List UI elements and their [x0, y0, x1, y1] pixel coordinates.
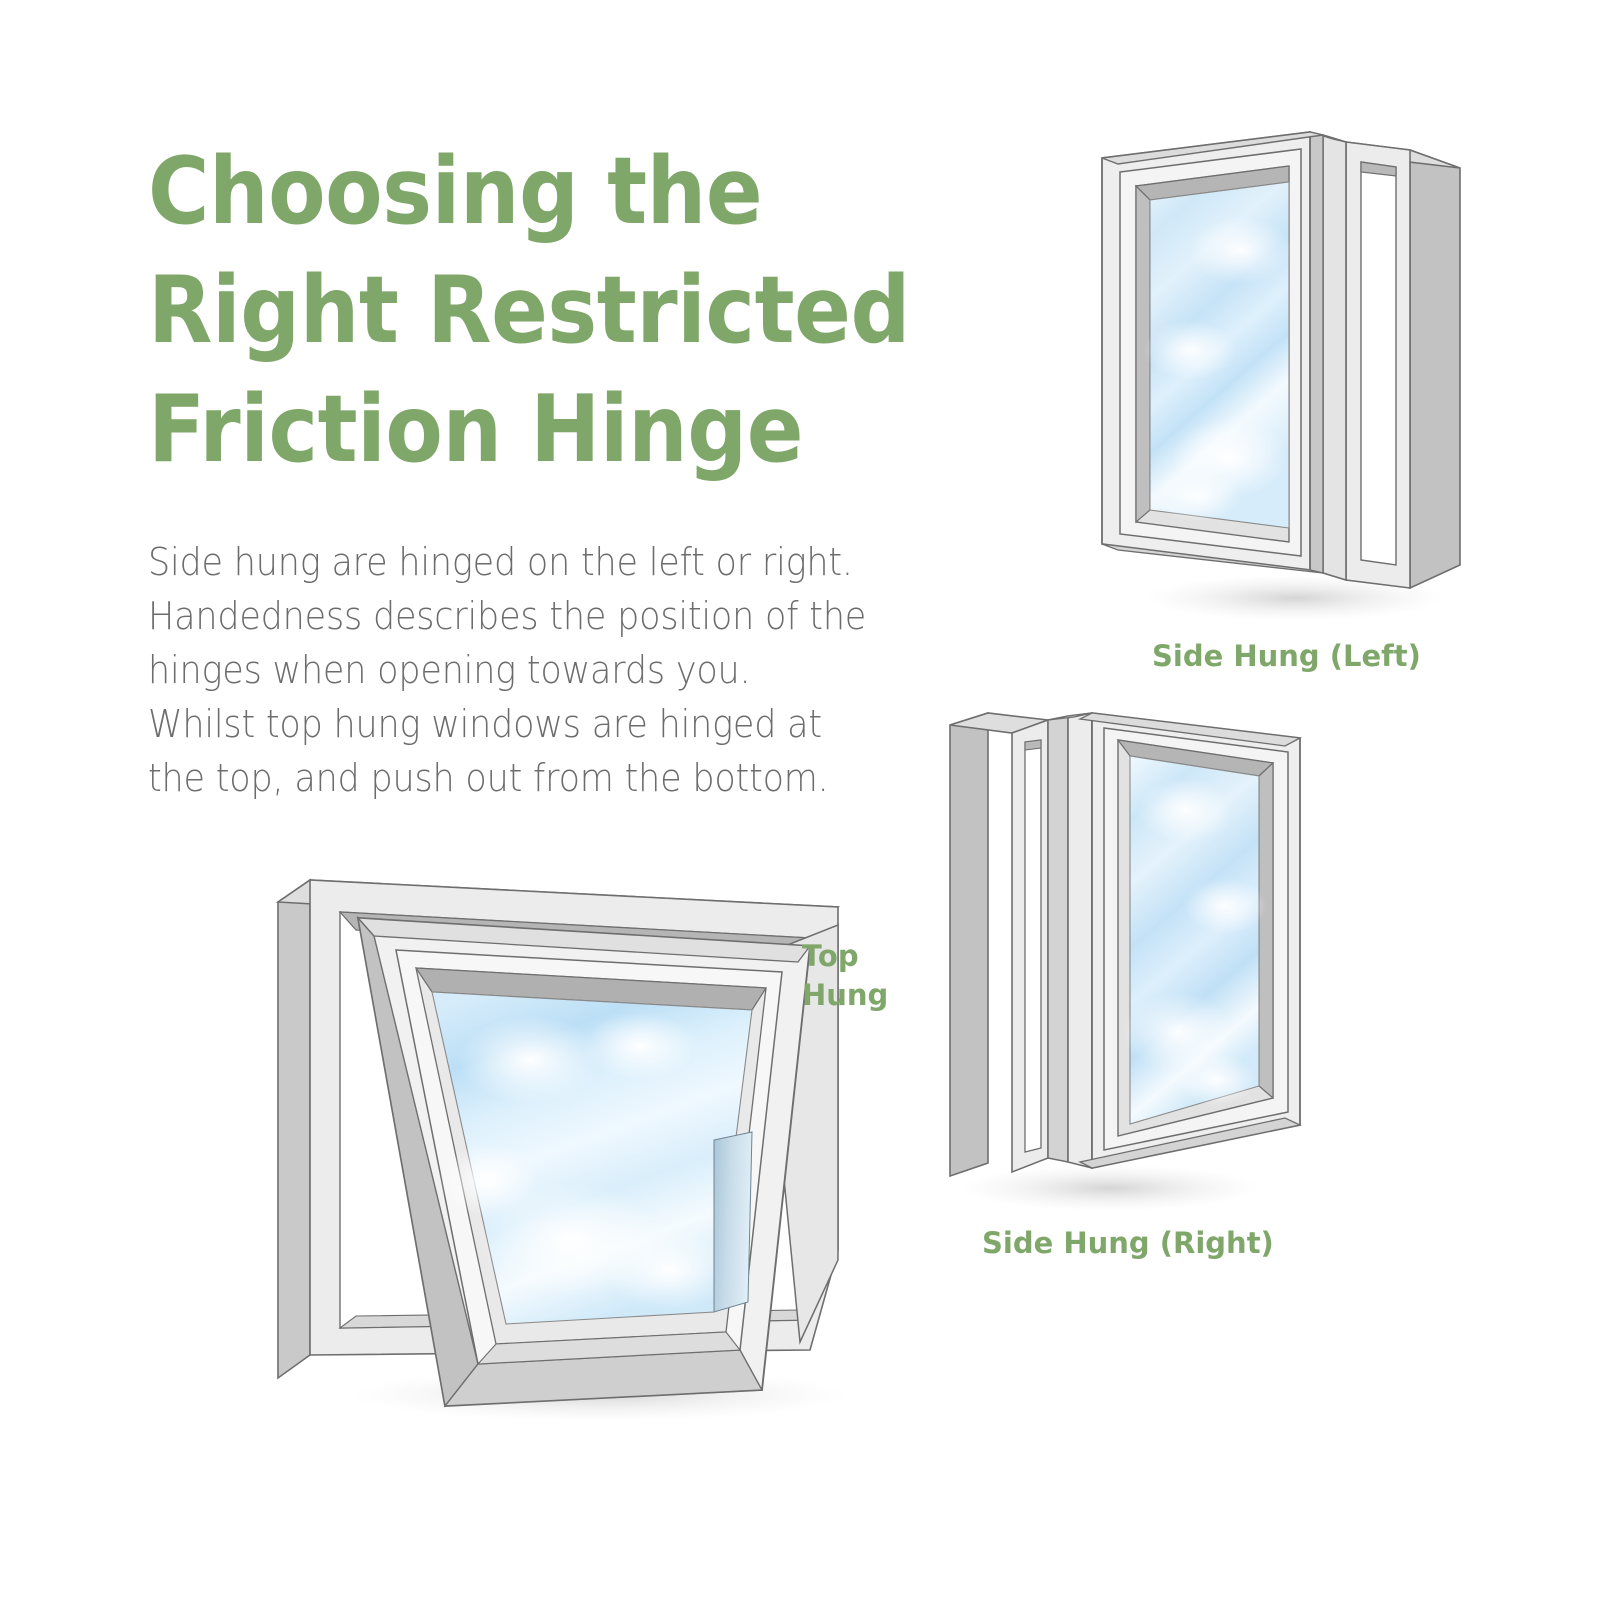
- frame-jamb-side: [1310, 132, 1323, 573]
- infographic-canvas: Choosing the Right Restricted Friction H…: [0, 0, 1600, 1600]
- sash-right-stile-reveal: [1259, 763, 1273, 1098]
- outer-frame-left-face: [950, 713, 988, 1176]
- figure-label-top-hung: Top Hung: [802, 937, 888, 1015]
- figure-label-side-hung-right: Side Hung (Right): [982, 1224, 1274, 1263]
- outer-frame-opening: [1361, 162, 1396, 565]
- window-side-hung-right-icon: [940, 680, 1320, 1220]
- outer-frame-left-face: [278, 880, 310, 1378]
- intro-paragraph: Side hung are hinged on the left or righ…: [148, 536, 884, 806]
- frame-jamb-front: [1068, 713, 1092, 1168]
- outer-frame-head-reveal: [1025, 740, 1041, 750]
- frame-jamb-front: [1323, 135, 1346, 580]
- outer-frame-right-face: [1410, 150, 1460, 588]
- window-side-hung-left-icon: [1080, 110, 1460, 630]
- page-title: Choosing the Right Restricted Friction H…: [148, 132, 922, 489]
- glass-edge-strip: [714, 1132, 752, 1312]
- figure-label-side-hung-left: Side Hung (Left): [1152, 637, 1421, 676]
- figure-shadow: [960, 1165, 1260, 1211]
- outer-frame-opening: [1025, 740, 1041, 1152]
- frame-jamb-left: [1048, 716, 1068, 1162]
